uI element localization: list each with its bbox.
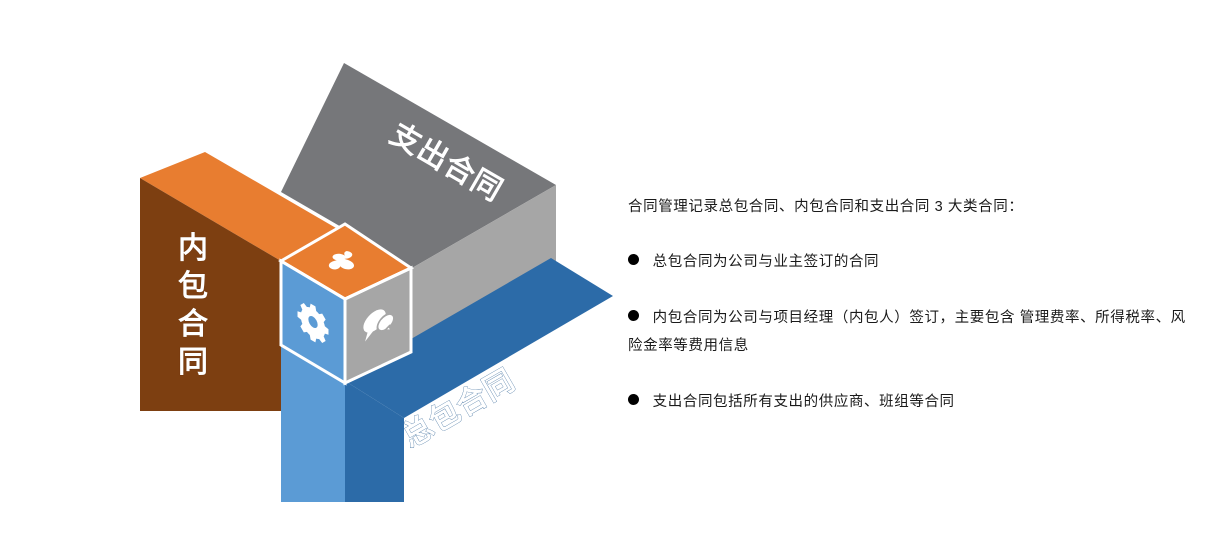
bullet-dot-icon: [628, 394, 639, 405]
bullet-text: 支出合同包括所有支出的供应商、班组等合同: [653, 394, 955, 410]
bullet-dot-icon: [628, 254, 639, 265]
bullet-dot-icon: [628, 310, 639, 321]
arm-inner-label-char: 同: [178, 346, 209, 379]
page-root: 支出合同 内 包 合 同: [0, 0, 1228, 552]
arm-inner-label-char: 包: [178, 269, 209, 303]
isometric-contract-diagram: 支出合同 内 包 合 同: [0, 0, 630, 552]
bullet-text: 内包合同为公司与项目经理（内包人）签订，主要包含: [653, 310, 1015, 326]
description-panel: 合同管理记录总包合同、内包合同和支出合同 3 大类合同： 总包合同为公司与业主签…: [628, 196, 1188, 416]
list-item: 总包合同为公司与业主签订的合同: [628, 248, 1188, 276]
list-item: 内包合同为公司与项目经理（内包人）签订，主要包含 管理费率、所得税率、风险金率等…: [628, 304, 1188, 360]
intro-text: 合同管理记录总包合同、内包合同和支出合同 3 大类合同：: [628, 196, 1188, 218]
list-item: 支出合同包括所有支出的供应商、班组等合同: [628, 388, 1188, 416]
iso-diagram-svg: 支出合同 内 包 合 同: [0, 0, 630, 552]
bullet-text: 总包合同为公司与业主签订的合同: [653, 254, 880, 270]
arm-inner-label-char: 内: [178, 232, 209, 265]
arm-inner-label-char: 合: [178, 307, 209, 341]
